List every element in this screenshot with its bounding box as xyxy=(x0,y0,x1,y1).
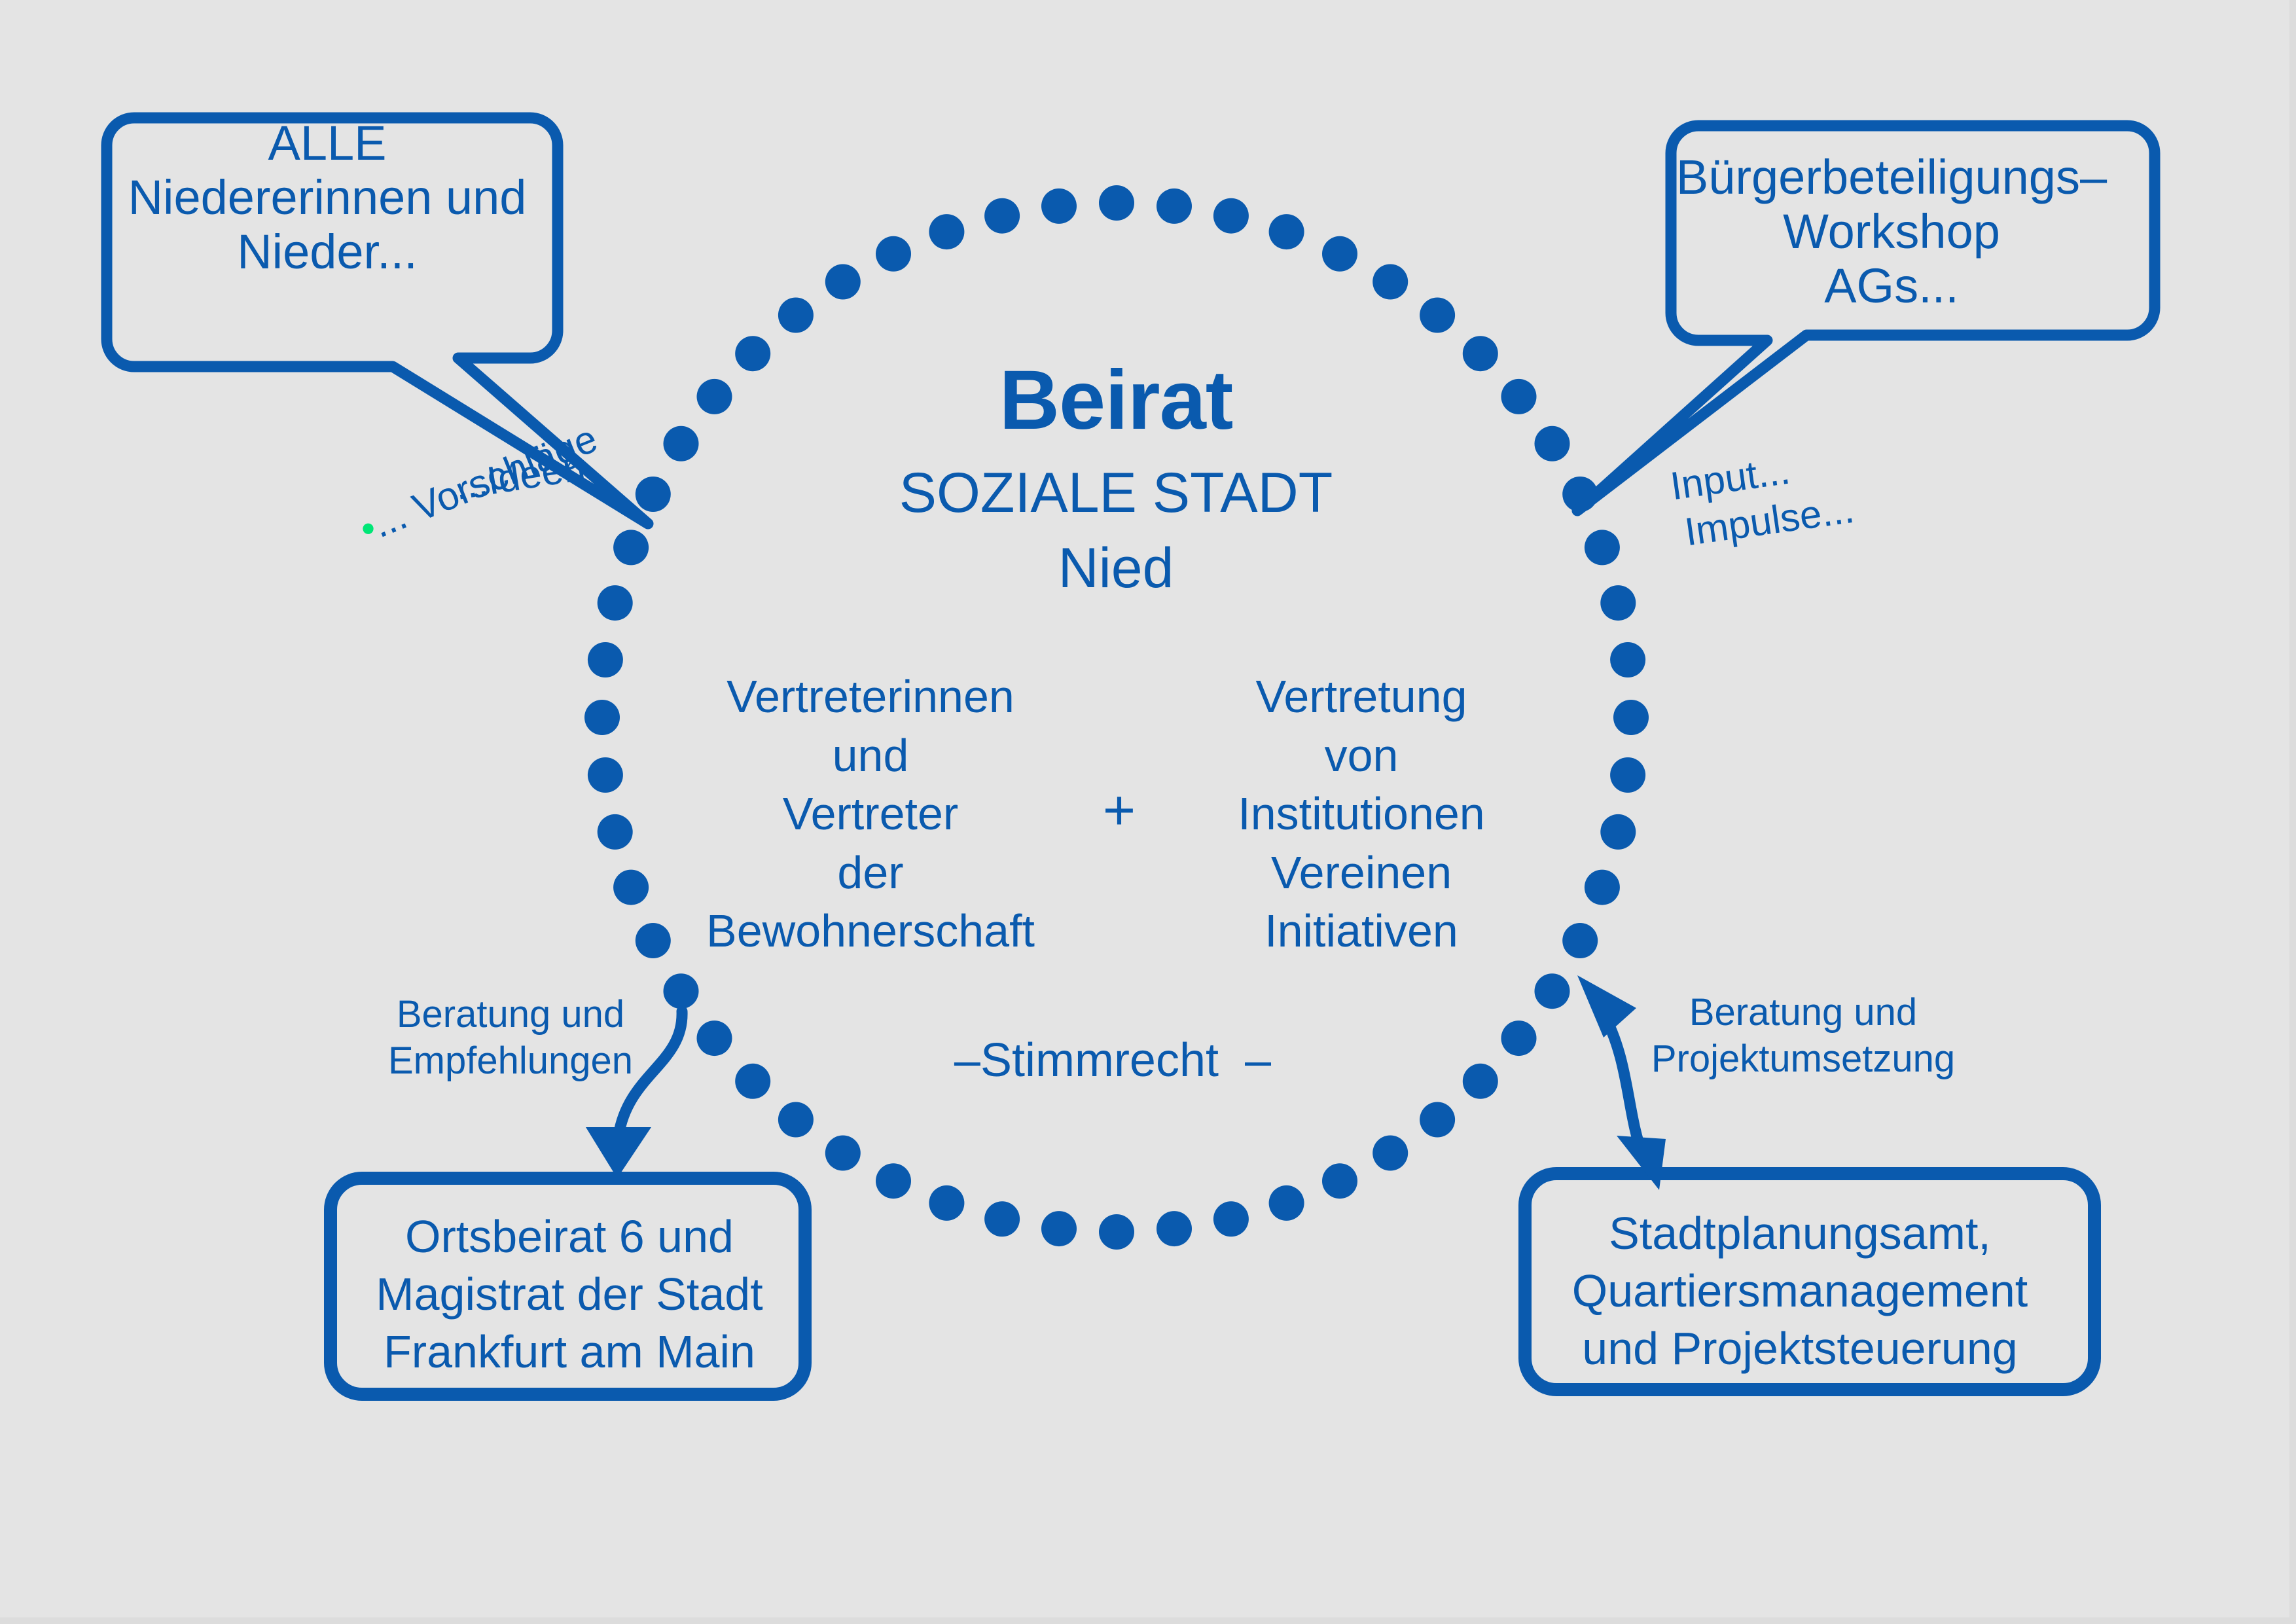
circle-dot xyxy=(1269,1185,1304,1221)
circle-dot xyxy=(1322,236,1357,272)
circle-dot xyxy=(1501,379,1537,414)
circle-dot xyxy=(1372,1136,1408,1171)
circle-dot xyxy=(876,1163,911,1199)
circle-dot xyxy=(664,426,699,461)
circle-dot xyxy=(588,757,623,793)
circle-dot xyxy=(1610,642,1645,677)
speech-bubble-left-label: ALLE Niedererinnen und Nieder... xyxy=(92,117,563,280)
circle-dot xyxy=(1420,1102,1455,1138)
circle-dot xyxy=(778,298,814,333)
circle-dot xyxy=(1041,189,1077,224)
circle-dot xyxy=(1613,700,1649,735)
circle-dot xyxy=(613,870,649,905)
circle-dot xyxy=(1372,264,1408,300)
circle-dot xyxy=(1463,1064,1498,1099)
plus-sign: + xyxy=(1073,779,1165,842)
circle-dot xyxy=(664,973,699,1009)
circle-dot xyxy=(1322,1163,1357,1199)
circle-dot xyxy=(697,1020,732,1056)
circle-dot xyxy=(984,198,1020,234)
circle-dot xyxy=(1535,973,1570,1009)
box-bottom-right-label: Stadtplanungsamt, Quartiersmanagement un… xyxy=(1538,1204,2062,1378)
circle-dot xyxy=(613,530,649,565)
circle-dot xyxy=(1269,214,1304,249)
circle-dot xyxy=(1585,870,1620,905)
circle-dot xyxy=(1562,923,1598,958)
circle-dot xyxy=(1585,530,1620,565)
circle-dot xyxy=(1157,1211,1192,1246)
box-bottom-left-label: Ortsbeirat 6 und Magistrat der Stadt Fra… xyxy=(340,1208,798,1381)
center-column-left: Vertreterinnen und Vertreter der Bewohne… xyxy=(700,668,1041,961)
circle-dot xyxy=(929,1185,964,1221)
circle-dot xyxy=(778,1102,814,1138)
circle-dot xyxy=(825,1136,861,1171)
circle-dot xyxy=(1099,185,1134,221)
circle-dot xyxy=(598,814,633,850)
circle-dot xyxy=(1099,1214,1134,1250)
circle-dot xyxy=(984,1201,1020,1236)
circle-dot xyxy=(1535,426,1570,461)
circle-dot xyxy=(598,585,633,621)
center-subheading-1: SOZIALE STADT xyxy=(789,461,1443,524)
circle-dot xyxy=(735,336,770,371)
diagram-canvas: ALLE Niedererinnen und Nieder... Bürgerb… xyxy=(0,0,2296,1624)
center-heading: Beirat xyxy=(789,353,1443,447)
speech-bubble-right-label: Bürgerbeteiligungs– Workshop AGs... xyxy=(1656,151,2127,314)
circle-dot xyxy=(1157,189,1192,224)
circle-dot xyxy=(929,214,964,249)
circle-dot xyxy=(1600,585,1636,621)
circle-dot xyxy=(1600,814,1636,850)
circle-dot xyxy=(735,1064,770,1099)
center-column-right: Vertretung von Institutionen Vereinen In… xyxy=(1204,668,1518,961)
circle-dot xyxy=(636,477,671,512)
circle-dot xyxy=(825,264,861,300)
circle-dot xyxy=(1041,1211,1077,1246)
center-footnote: –Stimmrecht – xyxy=(916,1034,1309,1087)
circle-dot xyxy=(636,923,671,958)
circle-dot xyxy=(1213,1201,1249,1236)
annotation-beratung-empfehlungen: Beratung und Empfehlungen xyxy=(373,992,648,1085)
circle-dot xyxy=(588,642,623,677)
circle-dot xyxy=(1610,757,1645,793)
circle-dot xyxy=(1213,198,1249,234)
circle-dot xyxy=(697,379,732,414)
circle-dot xyxy=(584,700,620,735)
circle-dot xyxy=(876,236,911,272)
center-subheading-2: Nied xyxy=(789,537,1443,600)
circle-dot xyxy=(1463,336,1498,371)
circle-dot xyxy=(1501,1020,1537,1056)
annotation-beratung-projektumsetzung: Beratung und Projektumsetzung xyxy=(1649,990,1957,1083)
circle-dot xyxy=(1420,298,1455,333)
